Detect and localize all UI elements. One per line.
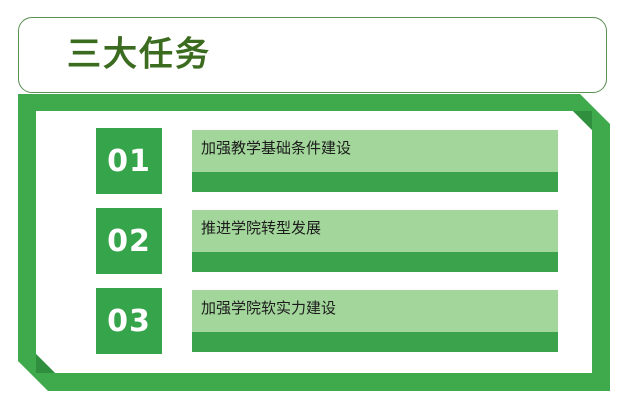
item-number-badge: 01 [96, 128, 162, 194]
list-item[interactable]: 03 加强学院软实力建设 [96, 288, 566, 354]
item-label: 加强教学基础条件建设 [201, 139, 351, 157]
list-item[interactable]: 02 推进学院转型发展 [96, 208, 566, 274]
item-bar-dark [192, 172, 558, 192]
page-title: 三大任务 [67, 37, 211, 71]
item-bar: 加强教学基础条件建设 [192, 130, 558, 192]
item-number-badge: 03 [96, 288, 162, 354]
item-number-badge: 02 [96, 208, 162, 274]
item-bar-dark [192, 332, 558, 352]
list-item[interactable]: 01 加强教学基础条件建设 [96, 128, 566, 194]
slide-canvas: 三大任务 01 加强教学基础条件建设 02 [0, 0, 630, 412]
item-bar-light: 推进学院转型发展 [192, 210, 558, 252]
title-box: 三大任务 [18, 17, 607, 93]
item-bar-light: 加强学院软实力建设 [192, 290, 558, 332]
item-label: 加强学院软实力建设 [201, 299, 336, 317]
item-label: 推进学院转型发展 [201, 219, 321, 237]
item-bar-light: 加强教学基础条件建设 [192, 130, 558, 172]
item-bar: 加强学院软实力建设 [192, 290, 558, 352]
item-bar: 推进学院转型发展 [192, 210, 558, 272]
item-bar-dark [192, 252, 558, 272]
